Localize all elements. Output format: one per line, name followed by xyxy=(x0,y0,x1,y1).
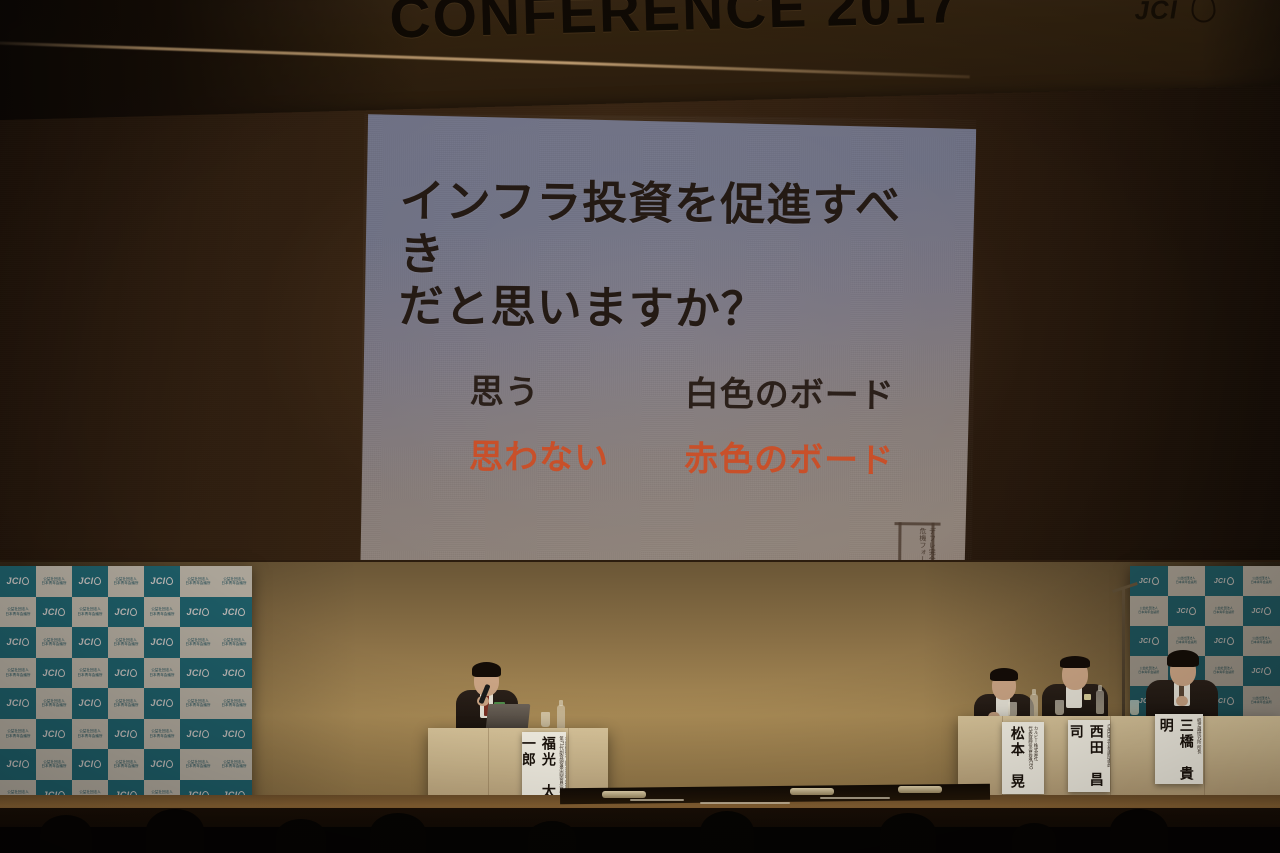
jci-logo-icon: JCI xyxy=(1251,607,1271,615)
jci-logo-icon: JCI xyxy=(1214,577,1234,585)
jci-logo-text: JCI xyxy=(115,729,130,739)
jci-backdrop-tile: 公益社団法人 日本青年会議所 xyxy=(216,627,252,658)
jci-pin-icon xyxy=(166,699,173,707)
jci-org-text: 公益社団法人 日本青年会議所 xyxy=(77,729,102,738)
jci-backdrop-tile: 公益社団法人 日本青年会議所 xyxy=(180,688,216,719)
jci-logo-icon: JCI xyxy=(43,607,66,617)
jci-backdrop-tile: 公益社団法人 日本青年会議所 xyxy=(180,566,216,597)
jci-logo-icon: JCI xyxy=(43,729,66,739)
jci-org-text: 公益社団法人 日本青年会議所 xyxy=(221,638,246,647)
jci-pin-icon xyxy=(202,608,209,616)
jci-logo-text: JCI xyxy=(7,759,22,769)
jci-logo-icon: JCI xyxy=(7,698,30,708)
water-glass xyxy=(1008,702,1017,717)
panelist-1-hair xyxy=(990,668,1018,681)
jci-logo-text: JCI xyxy=(151,698,166,708)
jci-backdrop-tile: 公益社団法人 日本青年会議所 xyxy=(108,627,144,658)
jci-logo-text: JCI xyxy=(43,607,58,617)
jci-logo-text: JCI xyxy=(151,576,166,586)
jci-backdrop-tile: 公益社団法人 日本青年会議所 xyxy=(180,627,216,658)
jci-org-text: 公益社団法人 日本青年会議所 xyxy=(77,607,102,616)
jci-logo-icon: JCI xyxy=(223,607,246,617)
jci-backdrop-tile: 公益社団法人 日本青年会議所 xyxy=(36,627,72,658)
jci-logo-icon: JCI xyxy=(115,607,138,617)
jci-logo-icon: JCI xyxy=(1251,667,1271,675)
jci-logo-text: JCI xyxy=(223,607,238,617)
jci-backdrop-tile: 公益社団法人 日本青年会議所 xyxy=(36,749,72,780)
jci-backdrop-tile: JCI xyxy=(108,658,144,689)
moderator-hair xyxy=(472,662,501,677)
jci-logo-text: JCI xyxy=(7,637,22,647)
nameplate-name: 西田 昌司 xyxy=(1068,724,1106,792)
jci-backdrop-tile: 公益社団法人 日本青年会議所 xyxy=(36,566,72,597)
jci-org-text: 公益社団法人 日本青年会議所 xyxy=(149,729,174,738)
jci-backdrop-tile: 公益社団法人 日本青年会議所 xyxy=(144,719,180,750)
jci-logo-text: JCI xyxy=(151,637,166,647)
jci-logo-text: JCI xyxy=(43,668,58,678)
jci-backdrop-tile: JCI xyxy=(144,749,180,780)
jci-logo-text: JCI xyxy=(151,759,166,769)
jci-org-text: 公益社団法人 日本青年会議所 xyxy=(1176,577,1197,585)
jci-backdrop-tile: 公益社団法人 日本青年会議所 xyxy=(180,749,216,780)
nameplate-panelist-2: 西田 昌司 自由民主党参議院議員 xyxy=(1068,720,1110,792)
jci-pin-icon xyxy=(1227,577,1234,585)
water-bottle xyxy=(1096,690,1104,714)
jci-logo-icon: JCI xyxy=(7,759,30,769)
table-cloth-fold xyxy=(1110,716,1111,796)
jci-pin-icon xyxy=(238,669,245,677)
jci-org-text: 公益社団法人 日本青年会議所 xyxy=(1251,637,1272,645)
jci-pin-icon xyxy=(130,730,137,738)
jci-logo-text: JCI xyxy=(1214,638,1226,645)
jci-pin-icon xyxy=(166,577,173,585)
jci-pin-icon xyxy=(22,699,29,707)
jci-logo-icon: JCI xyxy=(187,668,210,678)
jci-pin-icon xyxy=(238,608,245,616)
jci-backdrop-tile: JCI xyxy=(72,749,108,780)
jci-backdrop-tile: 公益社団法人 日本青年会議所 xyxy=(144,658,180,689)
jci-backdrop-tile: JCI xyxy=(108,597,144,628)
jci-logo-text: JCI xyxy=(1251,608,1263,615)
audience-silhouette xyxy=(880,813,936,853)
audience-silhouette xyxy=(40,815,92,853)
jci-org-text: 公益社団法人 日本青年会議所 xyxy=(113,577,138,586)
jci-backdrop-tile: 公益社団法人 日本青年会議所 xyxy=(108,749,144,780)
jci-org-text: 公益社団法人 日本青年会議所 xyxy=(1176,637,1197,645)
jci-backdrop-tile: JCI xyxy=(36,658,72,689)
jci-pin-icon xyxy=(58,669,65,677)
jci-backdrop-tile: JCI xyxy=(1168,596,1206,626)
jci-org-text: 公益社団法人 日本青年会議所 xyxy=(221,760,246,769)
jci-logo-text: JCI xyxy=(7,698,22,708)
jci-logo-text: JCI xyxy=(187,729,202,739)
jci-logo-text: JCI xyxy=(1176,608,1188,615)
jci-pin-icon xyxy=(22,577,29,585)
jci-pin-icon xyxy=(94,699,101,707)
option-no-instruction: 赤色のボード xyxy=(684,431,894,482)
jci-org-text: 公益社団法人 日本青年会議所 xyxy=(149,607,174,616)
jci-pin-icon xyxy=(1152,577,1159,585)
jci-backdrop-tile: JCI xyxy=(144,688,180,719)
jci-pin-icon xyxy=(202,669,209,677)
jci-logo-icon: JCI xyxy=(1176,607,1196,615)
jci-backdrop-tile: 公益社団法人 日本青年会議所 xyxy=(0,719,36,750)
jci-backdrop-tile: 公益社団法人 日本青年会議所 xyxy=(1205,596,1243,626)
jci-backdrop-tile: JCI xyxy=(1205,566,1243,596)
water-glass xyxy=(541,712,550,727)
jci-backdrop-tile: 公益社団法人 日本青年会議所 xyxy=(1243,626,1280,656)
jci-org-text: 公益社団法人 日本青年会議所 xyxy=(5,607,30,616)
jci-backdrop-tile: JCI xyxy=(216,597,252,628)
jci-org-text: 公益社団法人 日本青年会議所 xyxy=(41,577,66,586)
jci-org-text: 公益社団法人 日本青年会議所 xyxy=(113,760,138,769)
jci-logo-text: JCI xyxy=(187,607,202,617)
jci-logo-text: JCI xyxy=(1139,638,1151,645)
jci-backdrop-tile: JCI xyxy=(216,658,252,689)
water-bottle xyxy=(1030,694,1038,718)
stage-cable xyxy=(700,802,790,804)
jci-backdrop-tile: JCI xyxy=(0,627,36,658)
jci-backdrop-tile: JCI xyxy=(36,719,72,750)
nameplate-title: 自由民主党参議院議員 xyxy=(1106,724,1110,767)
banner-jci-logo-text: JCI xyxy=(1134,0,1178,26)
jci-backdrop-tile: 公益社団法人 日本青年会議所 xyxy=(108,688,144,719)
jci-backdrop-tile: 公益社団法人 日本青年会議所 xyxy=(108,566,144,597)
jci-logo-text: JCI xyxy=(79,759,94,769)
jci-logo-icon: JCI xyxy=(43,668,66,678)
jci-org-text: 公益社団法人 日本青年会議所 xyxy=(1213,607,1234,615)
jci-pin-icon xyxy=(166,638,173,646)
jci-org-text: 公益社団法人 日本青年会議所 xyxy=(1138,607,1159,615)
jci-logo-icon: JCI xyxy=(1139,577,1159,585)
audience-silhouette xyxy=(528,821,576,853)
water-bottle xyxy=(557,705,565,729)
jci-logo-icon: JCI xyxy=(115,729,138,739)
jci-logo-icon: JCI xyxy=(79,637,102,647)
banner-shadow-left xyxy=(0,0,422,121)
jci-pin-icon xyxy=(94,638,101,646)
jci-logo-icon: JCI xyxy=(1139,637,1159,645)
jci-logo-icon: JCI xyxy=(79,698,102,708)
jci-pin-icon xyxy=(58,608,65,616)
slide-option-yes: 思う 白色のボード xyxy=(470,364,895,417)
panelist-3-hair xyxy=(1167,650,1199,667)
jci-backdrop-tile: JCI xyxy=(72,566,108,597)
jci-logo-icon: JCI xyxy=(223,729,246,739)
slide-title-line-2: だと思いますか？ xyxy=(398,281,943,339)
table-cloth-fold xyxy=(1204,716,1205,796)
nameplate-title: カルビー株式会社 代表取締役会長兼CEO xyxy=(1027,726,1038,770)
jci-logo-text: JCI xyxy=(223,729,238,739)
jci-backdrop-tile: JCI xyxy=(216,719,252,750)
footlight xyxy=(790,788,834,795)
jci-logo-text: JCI xyxy=(43,729,58,739)
conference-photo: CONFERENCE 2017 JCI インフラ投資を促進すべき だと思いますか… xyxy=(0,0,1280,853)
jci-logo-icon: JCI xyxy=(187,729,210,739)
jci-pin-icon xyxy=(58,730,65,738)
jci-backdrop-tile: 公益社団法人 日本青年会議所 xyxy=(1168,566,1206,596)
jci-org-text: 公益社団法人 日本青年会議所 xyxy=(1251,577,1272,585)
option-yes-instruction: 白色のボード xyxy=(685,366,895,417)
jci-backdrop-tile: JCI xyxy=(1130,566,1168,596)
jci-backdrop-tile: JCI xyxy=(72,688,108,719)
jci-pin-icon xyxy=(1264,607,1271,615)
panelist-3-hand xyxy=(1176,696,1188,706)
jci-backdrop-tile: 公益社団法人 日本青年会議所 xyxy=(72,719,108,750)
jci-backdrop-tile: 公益社団法人 日本青年会議所 xyxy=(216,566,252,597)
jci-backdrop-tile: JCI xyxy=(72,627,108,658)
jci-org-text: 公益社団法人 日本青年会議所 xyxy=(185,760,210,769)
jci-backdrop-tile: JCI xyxy=(0,566,36,597)
jci-logo-text: JCI xyxy=(115,668,130,678)
jci-backdrop-tile: 公益社団法人 日本青年会議所 xyxy=(1243,686,1280,716)
panelist-2-lapel-badge xyxy=(1084,694,1091,700)
slide-title: インフラ投資を促進すべき だと思いますか？ xyxy=(398,175,944,338)
jci-backdrop-tile: JCI xyxy=(144,627,180,658)
jci-backdrop-tile: 公益社団法人 日本青年会議所 xyxy=(0,597,36,628)
slide-title-line-1: インフラ投資を促進すべき xyxy=(399,175,945,286)
jci-org-text: 公益社団法人 日本青年会議所 xyxy=(5,668,30,677)
water-glass xyxy=(1130,700,1139,715)
jci-backdrop-tile: JCI xyxy=(144,566,180,597)
jci-logo-text: JCI xyxy=(79,576,94,586)
jci-pin-icon xyxy=(238,730,245,738)
jci-logo-text: JCI xyxy=(79,637,94,647)
jci-pin-icon xyxy=(130,608,137,616)
jci-pin-icon xyxy=(130,669,137,677)
audience-silhouette xyxy=(146,809,204,853)
option-no-answer: 思わない xyxy=(469,429,684,480)
jci-backdrop-tile: 公益社団法人 日本青年会議所 xyxy=(0,658,36,689)
jci-backdrop-tile: JCI xyxy=(36,597,72,628)
footlight xyxy=(602,791,646,798)
jci-pin-icon xyxy=(1264,667,1271,675)
jci-org-text: 公益社団法人 日本青年会議所 xyxy=(77,668,102,677)
jci-org-text: 公益社団法人 日本青年会議所 xyxy=(185,699,210,708)
panelist-2-hair xyxy=(1060,656,1090,668)
jci-logo-icon: JCI xyxy=(115,668,138,678)
jci-pin-icon xyxy=(202,730,209,738)
jci-org-text: 公益社団法人 日本青年会議所 xyxy=(149,668,174,677)
audience-silhouette xyxy=(700,811,754,853)
jci-logo-text: JCI xyxy=(1214,578,1226,585)
jci-pin-icon xyxy=(1227,637,1234,645)
jci-logo-icon: JCI xyxy=(7,576,30,586)
nameplate-name: 松本 晃 xyxy=(1007,726,1027,790)
jci-backdrop-tile: JCI xyxy=(180,658,216,689)
audience-silhouette xyxy=(276,819,326,853)
panelist-3-figure xyxy=(1146,650,1222,722)
option-yes-answer: 思う xyxy=(470,364,685,415)
jci-logo-icon: JCI xyxy=(151,698,174,708)
jci-org-text: 公益社団法人 日本青年会議所 xyxy=(41,699,66,708)
laptop-device xyxy=(486,704,531,730)
jci-org-text: 公益社団法人 日本青年会議所 xyxy=(1251,697,1272,705)
projection-screen: インフラ投資を促進すべき だと思いますか？ 思う 白色のボード 思わない 赤色の… xyxy=(360,113,977,627)
jci-backdrop-tile: JCI xyxy=(108,719,144,750)
jci-logo-icon: JCI xyxy=(151,637,174,647)
jci-backdrop-tile: JCI xyxy=(0,688,36,719)
jci-org-text: 公益社団法人 日本青年会議所 xyxy=(5,729,30,738)
jci-logo-icon: JCI xyxy=(1214,637,1234,645)
jci-backdrop-left: JCI公益社団法人 日本青年会議所JCI公益社団法人 日本青年会議所JCI公益社… xyxy=(0,566,252,810)
jci-backdrop-tile: 公益社団法人 日本青年会議所 xyxy=(1130,596,1168,626)
jci-logo-text: JCI xyxy=(7,576,22,586)
nameplate-title: 経世論研究所 所長 xyxy=(1196,718,1202,754)
jci-logo-text: JCI xyxy=(79,698,94,708)
jci-org-text: 公益社団法人 日本青年会議所 xyxy=(113,638,138,647)
jci-logo-icon: JCI xyxy=(79,576,102,586)
jci-pin-icon xyxy=(22,760,29,768)
footlight xyxy=(898,786,942,793)
jci-org-text: 公益社団法人 日本青年会議所 xyxy=(113,699,138,708)
jci-backdrop-tile: 公益社団法人 日本青年会議所 xyxy=(144,597,180,628)
stage-cable xyxy=(820,797,890,799)
nameplate-panelist-3: 三橋 貴明 経世論研究所 所長 xyxy=(1155,714,1203,784)
nameplate-panelist-1: 松本 晃 カルビー株式会社 代表取締役会長兼CEO xyxy=(1002,722,1044,794)
jci-logo-icon: JCI xyxy=(7,637,30,647)
jci-org-text: 公益社団法人 日本青年会議所 xyxy=(41,638,66,647)
jci-logo-icon: JCI xyxy=(151,576,174,586)
jci-logo-icon: JCI xyxy=(79,759,102,769)
jci-logo-text: JCI xyxy=(1251,668,1263,675)
jci-org-text: 公益社団法人 日本青年会議所 xyxy=(185,577,210,586)
jci-backdrop-tile: 公益社団法人 日本青年会議所 xyxy=(216,749,252,780)
jci-logo-text: JCI xyxy=(115,607,130,617)
jci-logo-icon: JCI xyxy=(223,668,246,678)
slide-option-no: 思わない 赤色のボード xyxy=(469,429,894,482)
water-glass xyxy=(1055,700,1064,715)
banner-title: CONFERENCE 2017 xyxy=(389,0,962,52)
jci-org-text: 公益社団法人 日本青年会議所 xyxy=(185,638,210,647)
audience-silhouette xyxy=(1110,809,1168,853)
jci-logo-text: JCI xyxy=(1139,578,1151,585)
jci-org-text: 公益社団法人 日本青年会議所 xyxy=(41,760,66,769)
jci-logo-text: JCI xyxy=(223,668,238,678)
jci-org-text: 公益社団法人 日本青年会議所 xyxy=(221,577,246,586)
audience-silhouette xyxy=(1012,823,1056,853)
jci-backdrop-tile: 公益社団法人 日本青年会議所 xyxy=(1243,566,1280,596)
stage-cable xyxy=(630,799,684,801)
jci-backdrop-tile: JCI xyxy=(1243,656,1280,686)
jci-pin-icon xyxy=(166,760,173,768)
jci-org-text: 公益社団法人 日本青年会議所 xyxy=(221,699,246,708)
jci-pin-icon xyxy=(94,760,101,768)
jci-backdrop-tile: JCI xyxy=(0,749,36,780)
jci-logo-icon: JCI xyxy=(187,607,210,617)
jci-backdrop-tile: 公益社団法人 日本青年会議所 xyxy=(216,688,252,719)
jci-pin-icon xyxy=(1227,697,1234,705)
jci-backdrop-tile: JCI xyxy=(180,719,216,750)
jci-pin-icon xyxy=(94,577,101,585)
jci-backdrop-tile: JCI xyxy=(1243,596,1280,626)
jci-backdrop-tile: 公益社団法人 日本青年会議所 xyxy=(72,658,108,689)
jci-pin-icon xyxy=(1152,637,1159,645)
nameplate-name: 三橋 貴明 xyxy=(1156,718,1196,784)
jci-logo-text: JCI xyxy=(187,668,202,678)
jci-backdrop-tile: 公益社団法人 日本青年会議所 xyxy=(72,597,108,628)
jci-pin-icon xyxy=(1189,607,1196,615)
jci-pin-icon xyxy=(22,638,29,646)
jci-logo-icon: JCI xyxy=(151,759,174,769)
jci-backdrop-tile: 公益社団法人 日本青年会議所 xyxy=(36,688,72,719)
jci-backdrop-tile: JCI xyxy=(180,597,216,628)
audience-silhouette xyxy=(370,813,426,853)
